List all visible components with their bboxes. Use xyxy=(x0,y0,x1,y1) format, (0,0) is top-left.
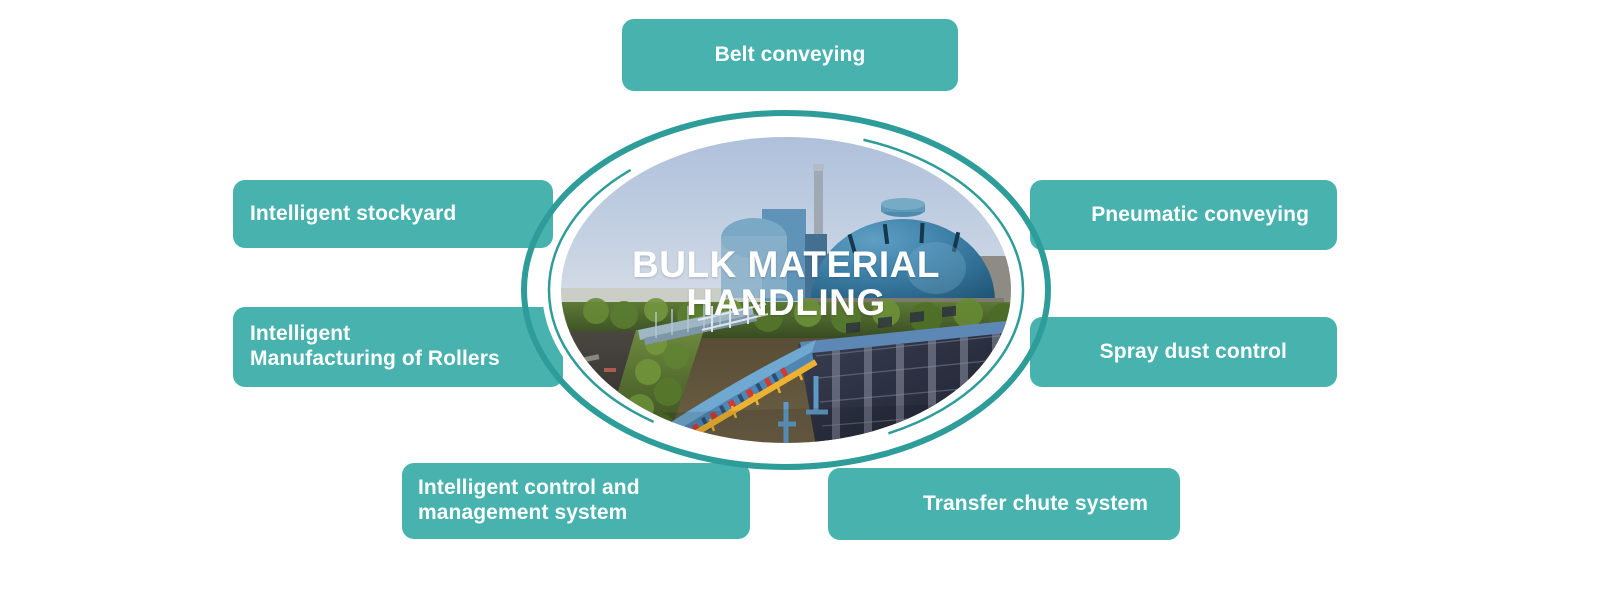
node-label: Intelligent control and management syste… xyxy=(418,476,640,526)
node-intelligent-control-and-management-system[interactable]: Intelligent control and management syste… xyxy=(402,463,750,539)
node-spray-dust-control[interactable]: Spray dust control xyxy=(1030,317,1337,387)
node-label: Intelligent stockyard xyxy=(250,202,456,227)
node-label: Spray dust control xyxy=(1100,340,1287,365)
node-transfer-chute-system[interactable]: Transfer chute system xyxy=(828,468,1180,540)
node-label: Intelligent Manufacturing of Rollers xyxy=(250,322,500,372)
node-belt-conveying[interactable]: Belt conveying xyxy=(622,19,958,91)
node-label: Pneumatic conveying xyxy=(1091,203,1309,228)
center-medallion: BULK MATERIAL HANDLING xyxy=(516,106,1056,474)
diagram-canvas: Belt conveying Intelligent stockyard Int… xyxy=(0,0,1600,600)
node-label: Belt conveying xyxy=(715,43,866,68)
node-label: Transfer chute system xyxy=(923,492,1148,517)
node-intelligent-manufacturing-of-rollers[interactable]: Intelligent Manufacturing of Rollers xyxy=(233,307,563,387)
node-intelligent-stockyard[interactable]: Intelligent stockyard xyxy=(233,180,553,248)
node-pneumatic-conveying[interactable]: Pneumatic conveying xyxy=(1030,180,1337,250)
